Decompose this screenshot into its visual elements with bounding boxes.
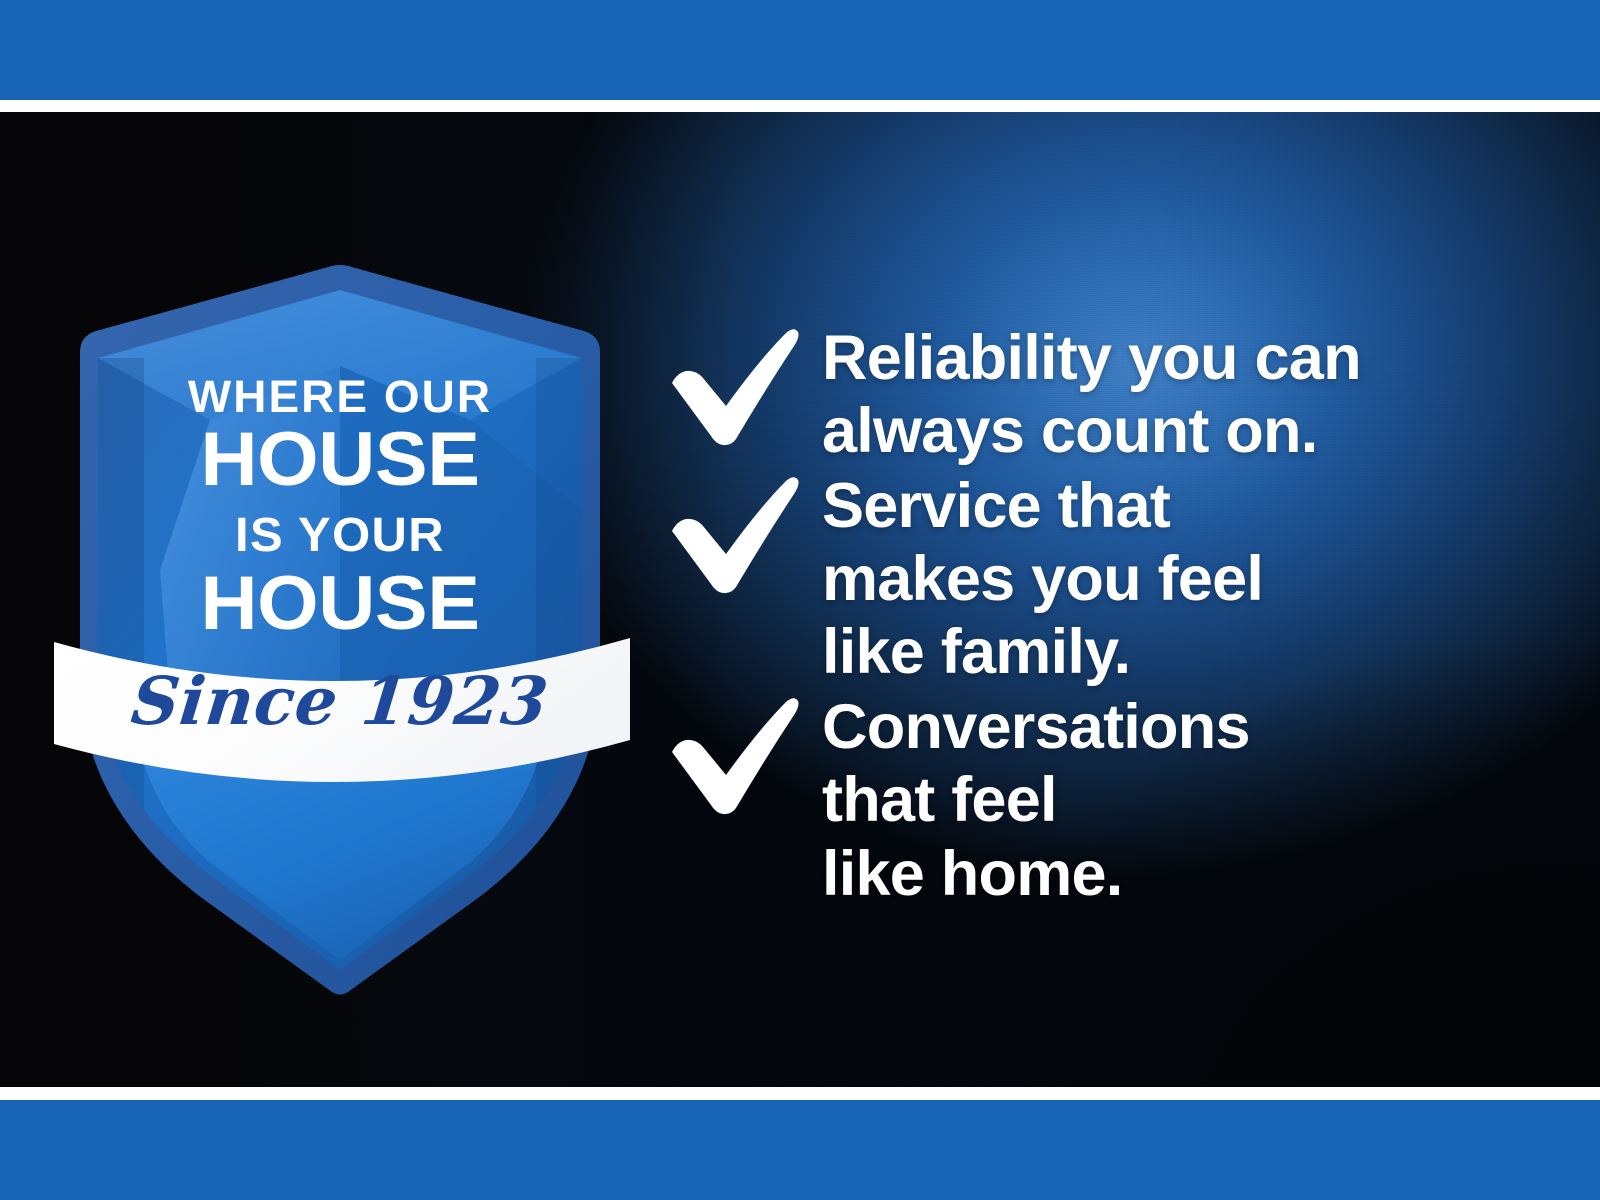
main-stage: Where our House is your House Since 1923… xyxy=(0,112,1600,1087)
benefit-text: Conversations that feel like home. xyxy=(822,689,1250,910)
check-icon xyxy=(668,326,800,446)
promo-graphic: Where our House is your House Since 1923… xyxy=(0,0,1600,1200)
top-brand-band xyxy=(0,0,1600,100)
benefit-item: Service that makes you feel like family. xyxy=(668,468,1568,689)
bottom-brand-band xyxy=(0,1100,1600,1200)
check-icon xyxy=(668,695,800,815)
shield-badge: Where our House is your House Since 1923 xyxy=(40,270,640,950)
benefits-list: Reliability you can always count on. Ser… xyxy=(668,262,1568,911)
benefit-text: Service that makes you feel like family. xyxy=(822,468,1263,689)
shield-inner-face xyxy=(98,290,582,978)
benefit-item: Conversations that feel like home. xyxy=(668,689,1568,910)
benefit-text: Reliability you can always count on. xyxy=(822,320,1361,468)
benefit-item: Reliability you can always count on. xyxy=(668,320,1568,468)
check-icon xyxy=(668,474,800,594)
